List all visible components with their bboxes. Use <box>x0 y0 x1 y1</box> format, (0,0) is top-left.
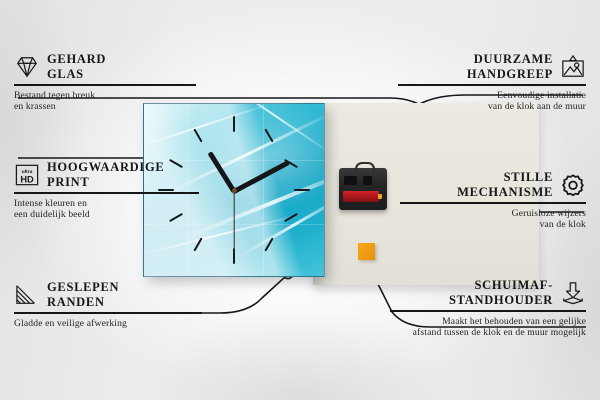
mechanism-button-right <box>363 176 372 185</box>
title-underline <box>14 312 202 314</box>
feature-title-text: HOOGWAARDIGEPRINT <box>47 160 164 189</box>
second-hand <box>233 191 234 253</box>
feature-title-text: GEHARDGLAS <box>47 52 106 81</box>
feature-description: Maakt het behouden van een gelijkeafstan… <box>390 316 586 339</box>
feature-title-text: GESLEPENRANDEN <box>47 280 119 309</box>
feature-title: STILLEMECHANISME <box>400 170 586 199</box>
feature-description: Geruisloze wijzersvan de klok <box>400 208 586 231</box>
title-underline <box>390 310 586 312</box>
feature-title: DUURZAMEHANDGREEP <box>398 52 586 81</box>
tick-12 <box>233 116 235 132</box>
product-infographic: GEHARDGLAS Bestand tegen breuken krassen… <box>0 0 600 400</box>
feature-title: ultra HD HOOGWAARDIGEPRINT <box>14 160 214 189</box>
clock-hub <box>232 188 237 193</box>
mechanism-hanger <box>355 162 375 173</box>
feature-title: GESLEPENRANDEN <box>14 280 214 309</box>
svg-text:HD: HD <box>20 174 34 184</box>
title-underline <box>400 202 586 204</box>
feature-duurzame-handgreep: DUURZAMEHANDGREEP Eenvoudige installatie… <box>398 52 586 113</box>
clock-mechanism <box>339 168 387 210</box>
feature-title-text: DUURZAMEHANDGREEP <box>467 52 553 81</box>
feature-stille-mechanisme: STILLEMECHANISME Geruisloze wijzersvan d… <box>400 170 586 231</box>
feature-schuimafstandhouder: SCHUIMAF-STANDHOUDER Maakt het behouden … <box>390 278 586 339</box>
title-underline <box>398 84 586 86</box>
foam-spacer <box>358 243 375 260</box>
feature-title-text: SCHUIMAF-STANDHOUDER <box>449 278 553 307</box>
feature-geslepen-randen: GESLEPENRANDEN Gladde en veilige afwerki… <box>14 280 214 329</box>
feature-title: SCHUIMAF-STANDHOUDER <box>390 278 586 307</box>
feature-title-text: STILLEMECHANISME <box>457 170 553 199</box>
feature-gehard-glas: GEHARDGLAS Bestand tegen breuken krassen <box>14 52 204 113</box>
feature-description: Bestand tegen breuken krassen <box>14 90 204 113</box>
feature-description: Eenvoudige installatievan de klok aan de… <box>398 90 586 113</box>
feature-description: Intense kleuren eneen duidelijk beeld <box>14 198 214 221</box>
beveled-edge-icon <box>14 283 40 307</box>
diamond-icon <box>14 55 40 79</box>
feature-title: GEHARDGLAS <box>14 52 204 81</box>
tick-11 <box>193 129 202 143</box>
title-underline <box>14 192 199 194</box>
minute-hand <box>233 160 290 194</box>
feature-description: Gladde en veilige afwerking <box>14 318 214 330</box>
gear-icon <box>560 173 586 197</box>
battery <box>343 191 379 202</box>
ultra-hd-icon: ultra HD <box>14 163 40 187</box>
framed-picture-icon <box>560 55 586 79</box>
feature-hoogwaardige-print: ultra HD HOOGWAARDIGEPRINT Intense kleur… <box>14 160 214 221</box>
mechanism-button-left <box>344 176 357 185</box>
title-underline <box>14 84 196 86</box>
tick-1 <box>264 129 273 143</box>
press-down-icon <box>560 281 586 305</box>
tick-3 <box>294 189 310 191</box>
